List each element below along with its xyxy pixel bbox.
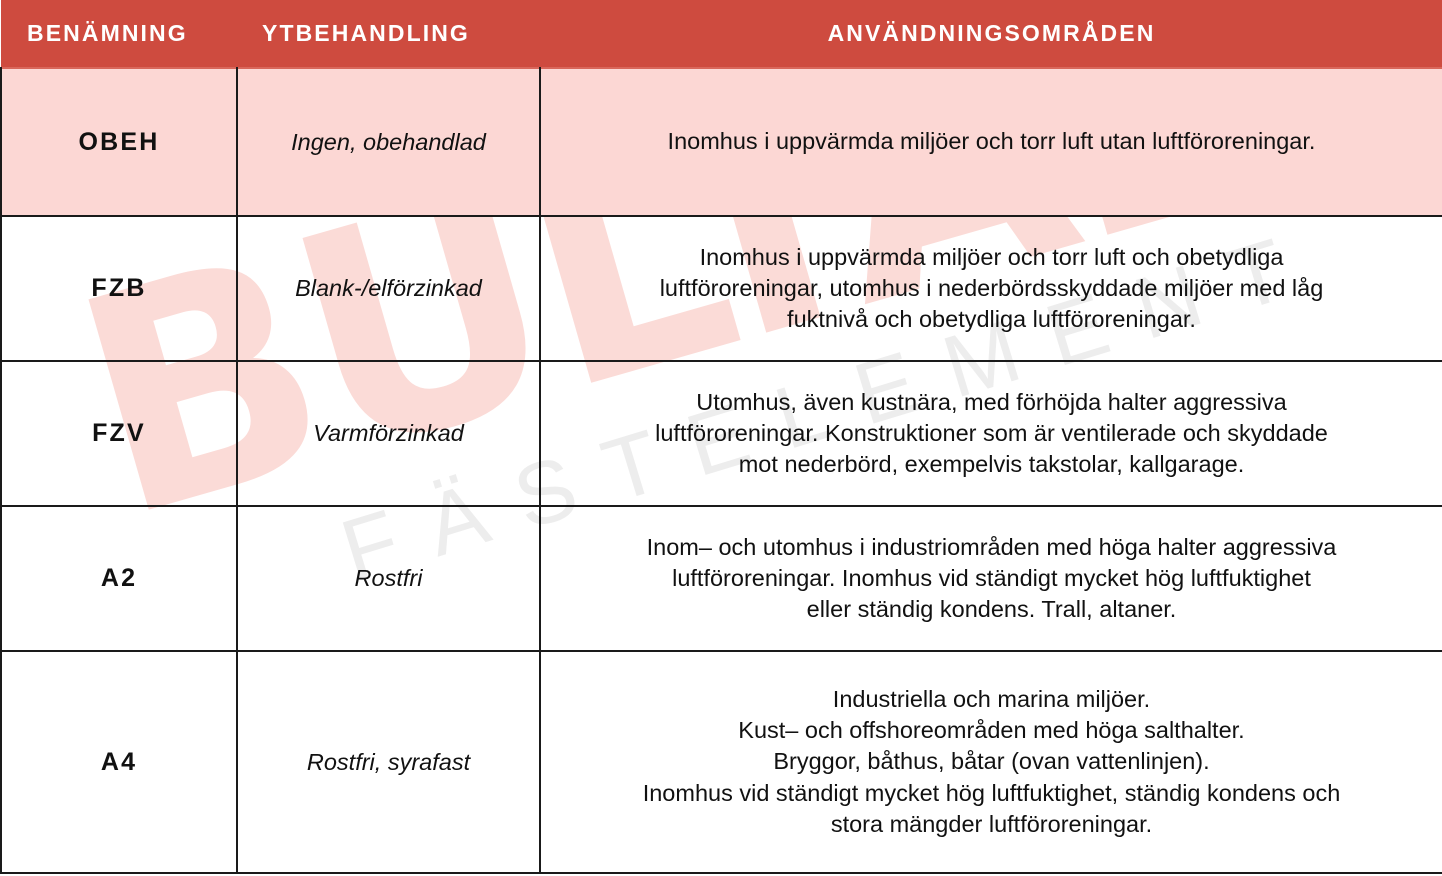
- usage-line: Inomhus vid ständigt mycket hög luftfukt…: [563, 778, 1420, 809]
- surface-treatment-table: BENÄMNING YTBEHANDLING ANVÄNDNINGSOMRÅDE…: [0, 0, 1442, 874]
- cell-applications: Inomhus i uppvärmda miljöer och torr luf…: [540, 216, 1442, 361]
- cell-applications: Inom– och utomhus i industriområden med …: [540, 506, 1442, 651]
- usage-line: Kust– och offshoreområden med höga salth…: [563, 715, 1420, 746]
- surface-treatment-table-page: BULTAB FÄSTELEMENT BENÄMNING YTBEHANDLIN…: [0, 0, 1442, 876]
- column-header-surface-treatment: YTBEHANDLING: [237, 0, 540, 68]
- cell-surface-treatment: Ingen, obehandlad: [237, 68, 540, 216]
- usage-line: Inom– och utomhus i industriområden med …: [563, 532, 1420, 563]
- cell-designation: A2: [1, 506, 237, 651]
- cell-applications: Inomhus i uppvärmda miljöer och torr luf…: [540, 68, 1442, 216]
- table-header: BENÄMNING YTBEHANDLING ANVÄNDNINGSOMRÅDE…: [1, 0, 1442, 68]
- cell-applications: Industriella och marina miljöer. Kust– o…: [540, 651, 1442, 873]
- table-row: FZB Blank-/elförzinkad Inomhus i uppvärm…: [1, 216, 1442, 361]
- table-body: OBEH Ingen, obehandlad Inomhus i uppvärm…: [1, 68, 1442, 873]
- table-row: A4 Rostfri, syrafast Industriella och ma…: [1, 651, 1442, 873]
- cell-surface-treatment: Varmförzinkad: [237, 361, 540, 506]
- usage-line: Bryggor, båthus, båtar (ovan vattenlinje…: [563, 746, 1420, 777]
- column-header-designation: BENÄMNING: [1, 0, 237, 68]
- table-header-row: BENÄMNING YTBEHANDLING ANVÄNDNINGSOMRÅDE…: [1, 0, 1442, 68]
- table-row: FZV Varmförzinkad Utomhus, även kustnära…: [1, 361, 1442, 506]
- column-header-applications: ANVÄNDNINGSOMRÅDEN: [540, 0, 1442, 68]
- usage-line: stora mängder luftföroreningar.: [563, 809, 1420, 840]
- cell-surface-treatment: Rostfri: [237, 506, 540, 651]
- cell-surface-treatment: Blank-/elförzinkad: [237, 216, 540, 361]
- usage-line: Inomhus i uppvärmda miljöer och torr luf…: [563, 126, 1420, 157]
- cell-applications: Utomhus, även kustnära, med förhöjda hal…: [540, 361, 1442, 506]
- cell-surface-treatment: Rostfri, syrafast: [237, 651, 540, 873]
- usage-line: fuktnivå och obetydliga luftföroreningar…: [563, 304, 1420, 335]
- usage-line: luftföroreningar. Konstruktioner som är …: [563, 418, 1420, 449]
- usage-line: luftföroreningar. Inomhus vid ständigt m…: [563, 563, 1420, 594]
- table-row: OBEH Ingen, obehandlad Inomhus i uppvärm…: [1, 68, 1442, 216]
- cell-designation: FZV: [1, 361, 237, 506]
- usage-line: Industriella och marina miljöer.: [563, 684, 1420, 715]
- usage-line: mot nederbörd, exempelvis takstolar, kal…: [563, 449, 1420, 480]
- usage-line: luftföroreningar, utomhus i nederbördssk…: [563, 273, 1420, 304]
- usage-line: Inomhus i uppvärmda miljöer och torr luf…: [563, 242, 1420, 273]
- cell-designation: A4: [1, 651, 237, 873]
- cell-designation: OBEH: [1, 68, 237, 216]
- table-row: A2 Rostfri Inom– och utomhus i industrio…: [1, 506, 1442, 651]
- usage-line: eller ständig kondens. Trall, altaner.: [563, 594, 1420, 625]
- cell-designation: FZB: [1, 216, 237, 361]
- usage-line: Utomhus, även kustnära, med förhöjda hal…: [563, 387, 1420, 418]
